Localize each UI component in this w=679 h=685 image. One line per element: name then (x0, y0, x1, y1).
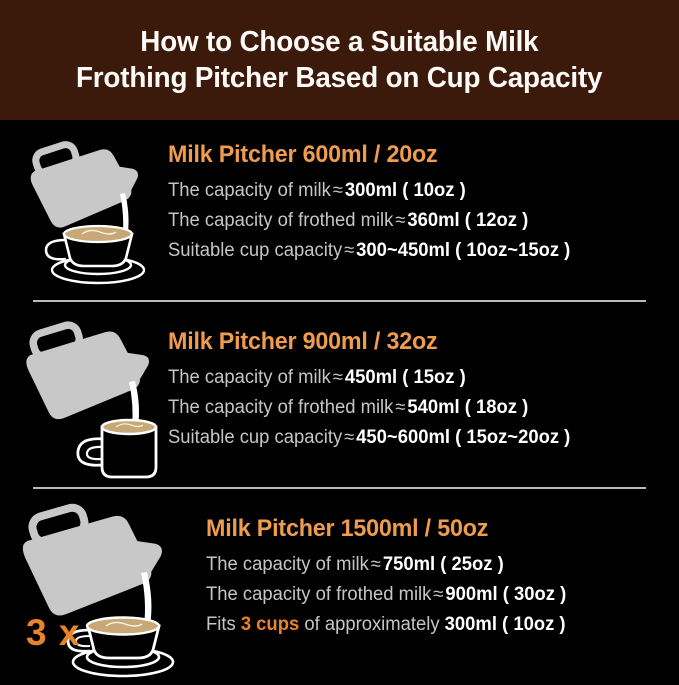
infographic-root: How to Choose a Suitable Milk Frothing P… (0, 0, 679, 679)
spec-value: 540ml ( 18oz ) (407, 397, 528, 418)
approx-symbol: ≈ (393, 397, 407, 418)
pitcher-section-900ml: Milk Pitcher 900ml / 32oz The capacity o… (0, 307, 679, 487)
spec-row-suitable-cup: Suitable cup capacity≈450~600ml ( 15oz~2… (168, 423, 570, 453)
pitcher-900-title: Milk Pitcher 900ml / 32oz (168, 327, 570, 357)
spec-row-milk-capacity: The capacity of milk≈450ml ( 15oz ) (168, 363, 570, 393)
spec-row-milk-capacity: The capacity of milk≈750ml ( 25oz ) (206, 550, 566, 580)
spec-label: The capacity of frothed milk (168, 397, 393, 418)
pitcher-section-600ml: Milk Pitcher 600ml / 20oz The capacity o… (0, 120, 679, 300)
pitcher-600-illustration (24, 132, 164, 297)
approx-symbol: ≈ (369, 554, 383, 575)
pitcher-pouring-into-cup-icon (24, 132, 164, 292)
pitcher-1500-illustration (18, 500, 193, 685)
pitcher-600-text-block: Milk Pitcher 600ml / 20oz The capacity o… (168, 140, 583, 266)
spec-accent-cups: 3 cups (241, 614, 299, 635)
pitcher-1500-title: Milk Pitcher 1500ml / 50oz (206, 514, 566, 544)
pitcher-900-illustration (22, 315, 172, 490)
approx-symbol: ≈ (431, 584, 445, 605)
section-divider (33, 487, 646, 489)
spec-value: 750ml ( 25oz ) (383, 554, 504, 575)
spec-row-suitable-cup: Suitable cup capacity≈300~450ml ( 10oz~1… (168, 236, 570, 266)
spec-value: 360ml ( 12oz ) (407, 210, 528, 231)
approx-symbol: ≈ (331, 367, 345, 388)
spec-value: 300~450ml ( 10oz~15oz ) (356, 240, 570, 261)
pitcher-600-title: Milk Pitcher 600ml / 20oz (168, 140, 570, 170)
spec-label: The capacity of milk (168, 367, 331, 388)
spec-row-fits-cups: Fits 3 cups of approximately 300ml ( 10o… (206, 610, 566, 640)
spec-label: The capacity of milk (206, 554, 369, 575)
spec-label-suffix: of approximately (304, 614, 439, 635)
spec-value: 300ml ( 10oz ) (345, 180, 466, 201)
spec-value: 450~600ml ( 15oz~20oz ) (356, 427, 570, 448)
approx-symbol: ≈ (342, 427, 356, 448)
spec-value: 450ml ( 15oz ) (345, 367, 466, 388)
spec-value: 900ml ( 30oz ) (445, 584, 566, 605)
approx-symbol: ≈ (331, 180, 345, 201)
spec-row-frothed-capacity: The capacity of frothed milk≈900ml ( 30o… (206, 580, 566, 610)
approx-symbol: ≈ (342, 240, 356, 261)
spec-label: Suitable cup capacity (168, 427, 342, 448)
header-banner: How to Choose a Suitable Milk Frothing P… (0, 0, 679, 120)
pitcher-section-1500ml: 3 x Milk Pitcher 1500ml / 50oz The capac… (0, 494, 679, 679)
section-divider (33, 300, 646, 302)
pitcher-900-text-block: Milk Pitcher 900ml / 32oz The capacity o… (168, 327, 583, 453)
page-title-line-2: Frothing Pitcher Based on Cup Capacity (76, 60, 602, 96)
spec-label-prefix: Fits (206, 614, 236, 635)
cup-multiplier-badge: 3 x (26, 612, 80, 654)
pitcher-1500-text-block: Milk Pitcher 1500ml / 50oz The capacity … (206, 514, 577, 640)
spec-label: The capacity of frothed milk (206, 584, 431, 605)
approx-symbol: ≈ (393, 210, 407, 231)
spec-label: The capacity of frothed milk (168, 210, 393, 231)
page-title-line-1: How to Choose a Suitable Milk (140, 24, 538, 60)
spec-label: Suitable cup capacity (168, 240, 342, 261)
spec-value: 300ml ( 10oz ) (445, 614, 566, 635)
spec-label: The capacity of milk (168, 180, 331, 201)
spec-row-frothed-capacity: The capacity of frothed milk≈360ml ( 12o… (168, 206, 570, 236)
spec-row-frothed-capacity: The capacity of frothed milk≈540ml ( 18o… (168, 393, 570, 423)
pitcher-pouring-into-mug-icon (22, 315, 172, 485)
spec-row-milk-capacity: The capacity of milk≈300ml ( 10oz ) (168, 176, 570, 206)
